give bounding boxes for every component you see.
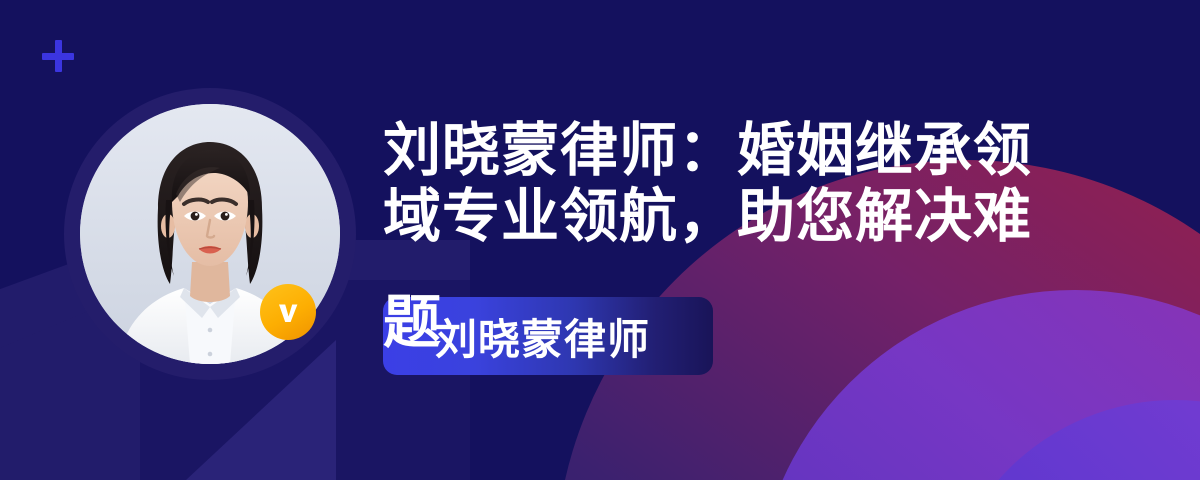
plus-icon — [42, 40, 74, 72]
verified-badge — [260, 284, 316, 340]
avatar[interactable] — [64, 88, 356, 380]
lawyer-promo-banner: 刘晓蒙律师：婚姻继承领 域专业领航，助您解决难 刘晓蒙律师 题 — [0, 0, 1200, 480]
headline-line-2: 域专业领航，助您解决难 — [383, 184, 1083, 250]
headline-block: 刘晓蒙律师：婚姻继承领 域专业领航，助您解决难 — [383, 118, 1083, 250]
page-title: 刘晓蒙律师：婚姻继承领 域专业领航，助您解决难 — [383, 118, 1083, 250]
plus-icon-bar-vertical — [55, 40, 62, 72]
headline-line-3: 题 — [383, 290, 442, 356]
headline-line-1: 刘晓蒙律师：婚姻继承领 — [383, 118, 1083, 184]
verified-v-icon — [272, 296, 304, 328]
gradient-arc-core — [940, 400, 1200, 480]
gradient-arc-inner — [755, 290, 1200, 480]
